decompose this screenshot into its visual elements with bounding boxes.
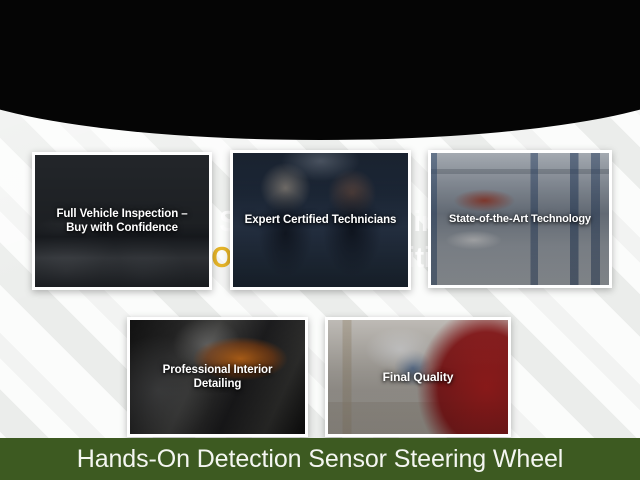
card-caption: State-of-the-Art Technology: [431, 212, 609, 226]
feature-card-final-quality[interactable]: Final Quality: [325, 317, 511, 437]
footer-banner: Hands-On Detection Sensor Steering Wheel: [0, 438, 640, 480]
promo-graphic: See what goes into every Pre-Owned Recon…: [0, 0, 640, 480]
footer-label: Hands-On Detection Sensor Steering Wheel: [77, 446, 564, 473]
feature-card-full-vehicle-inspection[interactable]: Full Vehicle Inspection – Buy with Confi…: [32, 152, 212, 290]
card-caption: Professional Interior Detailing: [130, 363, 305, 391]
card-caption: Final Quality: [328, 370, 508, 384]
feature-card-professional-interior-detailing[interactable]: Professional Interior Detailing: [127, 317, 308, 437]
feature-card-expert-certified-technicians[interactable]: Expert Certified Technicians: [230, 150, 411, 290]
card-caption: Full Vehicle Inspection – Buy with Confi…: [35, 207, 209, 235]
card-caption: Expert Certified Technicians: [233, 213, 408, 227]
feature-card-state-of-the-art-technology[interactable]: State-of-the-Art Technology: [428, 150, 612, 288]
header-banner: [0, 0, 640, 140]
